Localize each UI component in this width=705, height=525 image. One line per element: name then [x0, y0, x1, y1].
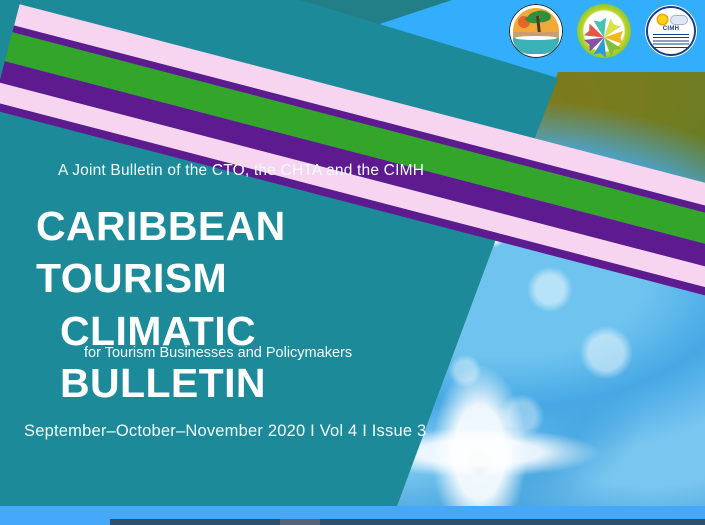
- bulletin-cover: CIMH A Joint Bulletin of the CTO, the CH…: [0, 0, 705, 525]
- issue-date-line: September–October–November 2020 I Vol 4 …: [24, 422, 426, 441]
- chta-logo: [577, 4, 631, 58]
- cimh-logo: CIMH: [645, 5, 697, 57]
- cto-logo: [509, 4, 563, 58]
- joint-bulletin-subtitle: A Joint Bulletin of the CTO, the CHTA an…: [58, 162, 424, 180]
- taskbar-segment: [110, 519, 280, 525]
- page-title: CARIBBEAN TOURISM CLIMATIC BULLETIN: [36, 200, 470, 410]
- taskbar-segment: [0, 519, 110, 525]
- bottom-accent-bar: [0, 506, 705, 519]
- taskbar-segment: [280, 519, 320, 525]
- cimh-logo-ring: [646, 6, 696, 56]
- taskbar-segment: [320, 519, 705, 525]
- taskbar-strip: [0, 519, 705, 525]
- organization-logos: CIMH: [509, 4, 697, 58]
- cto-logo-ring: [509, 4, 563, 58]
- audience-subtitle: for Tourism Businesses and Policymakers: [84, 345, 352, 361]
- page-title-line-1: CARIBBEAN TOURISM: [36, 203, 286, 301]
